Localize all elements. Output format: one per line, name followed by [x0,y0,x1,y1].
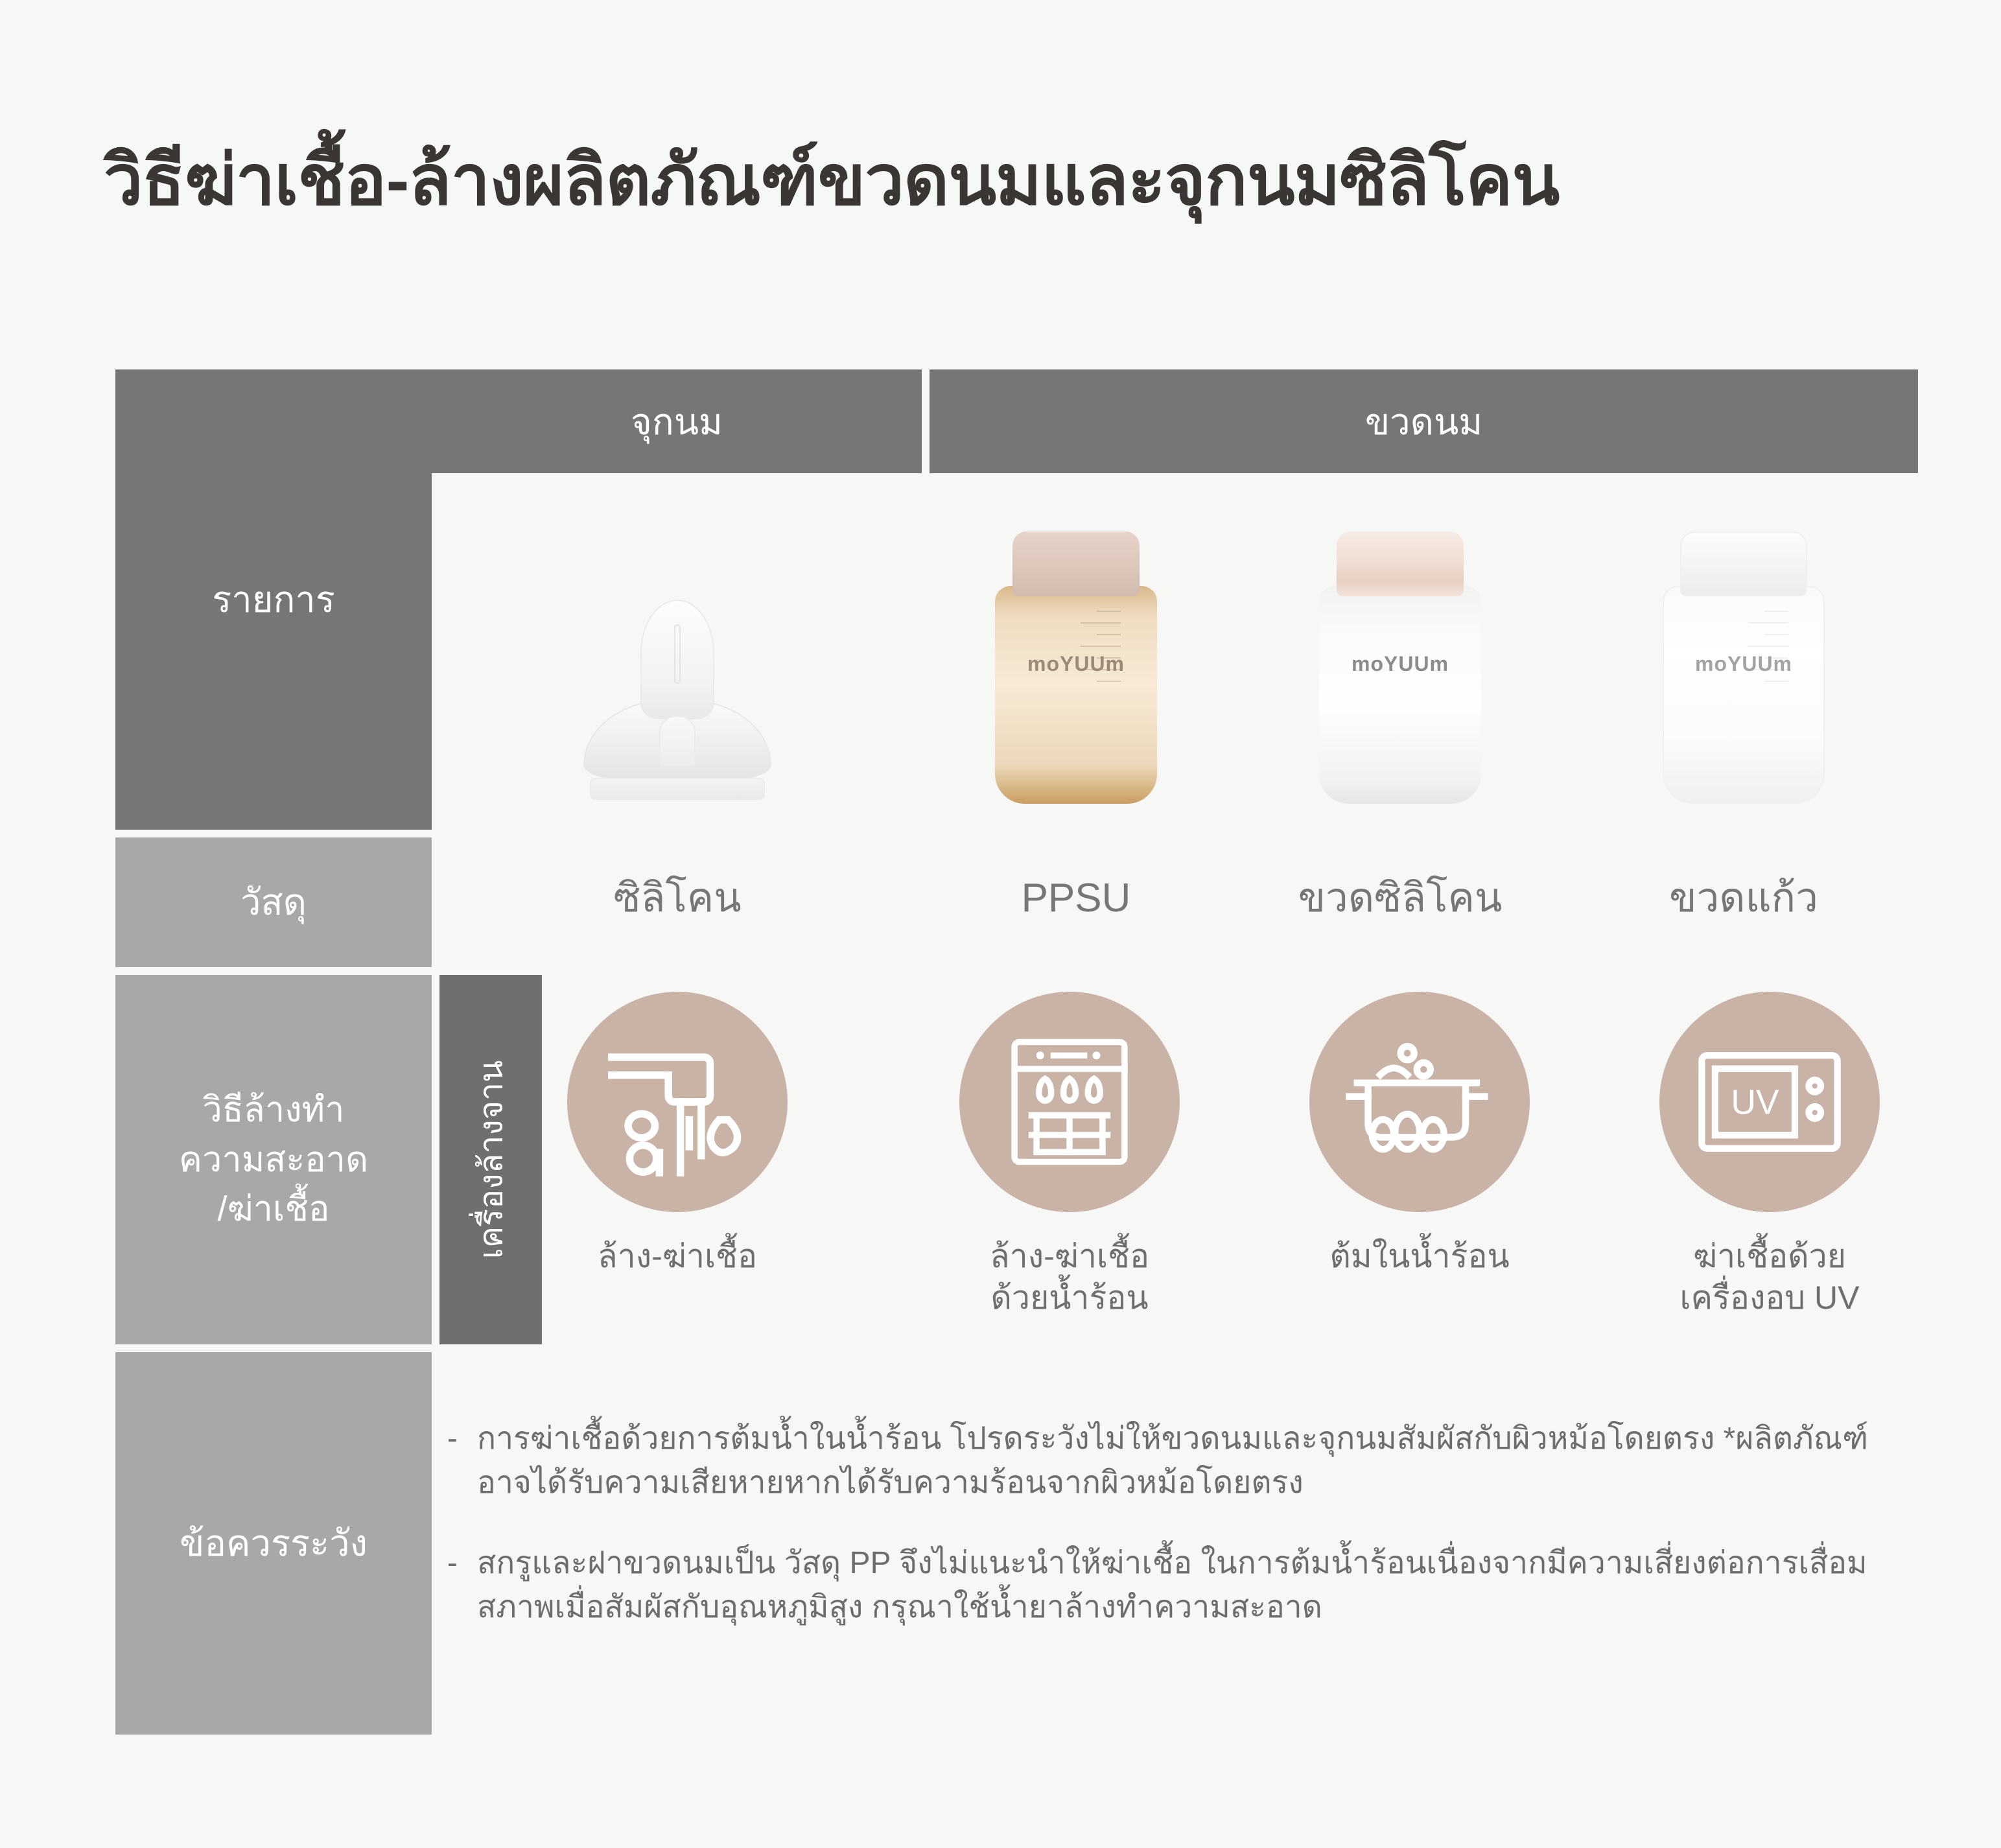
nipple-valve-nub-shape [659,716,696,766]
nipple-slit-shape [674,624,681,684]
bottle-cap-shape [1337,532,1464,596]
dishwasher-vertical-label: เครื่องล้างจาน [474,1060,507,1259]
caution-text: การฆ่าเชื้อด้วยการต้มน้ำในน้ำร้อน โปรดระ… [477,1417,1893,1505]
product-image-silicone-bottle: moYUUm [1264,512,1536,804]
column-header-nipple-label: จุกนม [631,393,723,450]
row-label-caution-text: ข้อควรระวัง [180,1517,368,1569]
uv-sterilizer-icon: UV [1659,992,1880,1212]
row-label-caution: ข้อควรระวัง [115,1352,432,1735]
brand-logo-moyuum: moYUUm [1319,652,1481,676]
bottle-body-shape [1663,586,1825,804]
method-caption-line1: ต้มในน้ำร้อน [1329,1238,1509,1274]
column-header-bottle-label: ขวดนม [1365,393,1482,450]
ppsu-bottle-illustration: moYUUm [995,532,1157,804]
column-header-bottle: ขวดนม [930,369,1918,473]
svg-text:UV: UV [1731,1083,1779,1121]
column-header-nipple: จุกนม [432,369,922,473]
row-label-cleaning: วิธีล้างทำ ความสะอาด /ฆ่าเชื้อ [115,975,432,1344]
caution-bullet: - [447,1541,477,1630]
brand-logo-moyuum: moYUUm [1663,652,1825,676]
method-caption: ล้าง-ฆ่าเชื้อ ด้วยน้ำร้อน [933,1235,1206,1318]
material-label-silicone-bottle: ขวดซิลิโคน [1264,862,1536,933]
silicone-bottle-illustration: moYUUm [1319,532,1481,804]
caution-item: - การฆ่าเชื้อด้วยการต้มน้ำในน้ำร้อน โปรด… [447,1417,1893,1505]
bottle-body-shape [1319,586,1481,804]
method-caption-line2: ด้วยน้ำร้อน [990,1280,1148,1316]
product-image-ppsu-bottle: moYUUm [940,512,1212,804]
silicone-nipple-illustration [583,590,771,804]
method-wash-sanitize: ล้าง-ฆ่าเชื้อ [541,992,813,1277]
method-caption-line1: ล้าง-ฆ่าเชื้อ [598,1238,757,1274]
product-image-silicone-nipple [519,512,836,804]
boiling-pot-icon [1309,992,1530,1212]
bottle-cap-shape [1680,532,1807,596]
row-label-cleaning-line1: วิธีล้างทำ [203,1090,345,1129]
row-label-cleaning-line2: ความสะอาด [179,1140,368,1179]
caution-list: - การฆ่าเชื้อด้วยการต้มน้ำในน้ำร้อน โปรด… [447,1417,1893,1667]
faucet-water-icon [567,992,788,1212]
row-label-material-text: วัสดุ [240,876,307,928]
nipple-flange-shape [590,778,765,800]
dishwasher-icon [959,992,1180,1212]
product-image-glass-bottle: moYUUm [1608,512,1880,804]
method-caption: ล้าง-ฆ่าเชื้อ [541,1235,813,1277]
infographic-page: วิธีฆ่าเชื้อ-ล้างผลิตภัณฑ์ขวดนมและจุกนมซ… [0,0,2001,1848]
row-label-cleaning-line3: /ฆ่าเชื้อ [218,1189,330,1228]
method-uv-sterilizer: UV ฆ่าเชื้อด้วย เครื่องอบ UV [1633,992,1906,1318]
method-caption: ฆ่าเชื้อด้วย เครื่องอบ UV [1633,1235,1906,1318]
method-caption-line1: ฆ่าเชื้อด้วย [1693,1238,1846,1274]
method-dishwasher-hot-water: ล้าง-ฆ่าเชื้อ ด้วยน้ำร้อน [933,992,1206,1318]
dishwasher-vertical-strip: เครื่องล้างจาน [439,975,542,1344]
method-boil-hot-water: ต้มในน้ำร้อน [1283,992,1556,1277]
page-title: วิธีฆ่าเชื้อ-ล้างผลิตภัณฑ์ขวดนมและจุกนมซ… [104,136,1919,224]
bottle-cap-shape [1012,532,1140,596]
brand-logo-moyuum: moYUUm [995,652,1157,676]
caution-bullet: - [447,1417,477,1505]
material-label-silicone: ซิลิโคน [519,862,836,933]
method-caption: ต้มในน้ำร้อน [1283,1235,1556,1277]
row-label-cleaning-text: วิธีล้างทำ ความสะอาด /ฆ่าเชื้อ [179,1085,368,1234]
row-label-items: รายการ [115,369,432,830]
method-caption-line2: เครื่องอบ UV [1680,1280,1860,1316]
method-caption-line1: ล้าง-ฆ่าเชื้อ [990,1238,1149,1274]
glass-bottle-illustration: moYUUm [1663,532,1825,804]
bottle-body-shape [995,586,1157,804]
caution-text: สกรูและฝาขวดนมเป็น วัสดุ PP จึงไม่แนะนำใ… [477,1541,1893,1630]
caution-item: - สกรูและฝาขวดนมเป็น วัสดุ PP จึงไม่แนะน… [447,1541,1893,1630]
material-label-glass-bottle: ขวดแก้ว [1608,862,1880,933]
row-label-items-text: รายการ [212,574,335,626]
material-label-ppsu: PPSU [940,862,1212,933]
row-label-material: วัสดุ [115,837,432,967]
